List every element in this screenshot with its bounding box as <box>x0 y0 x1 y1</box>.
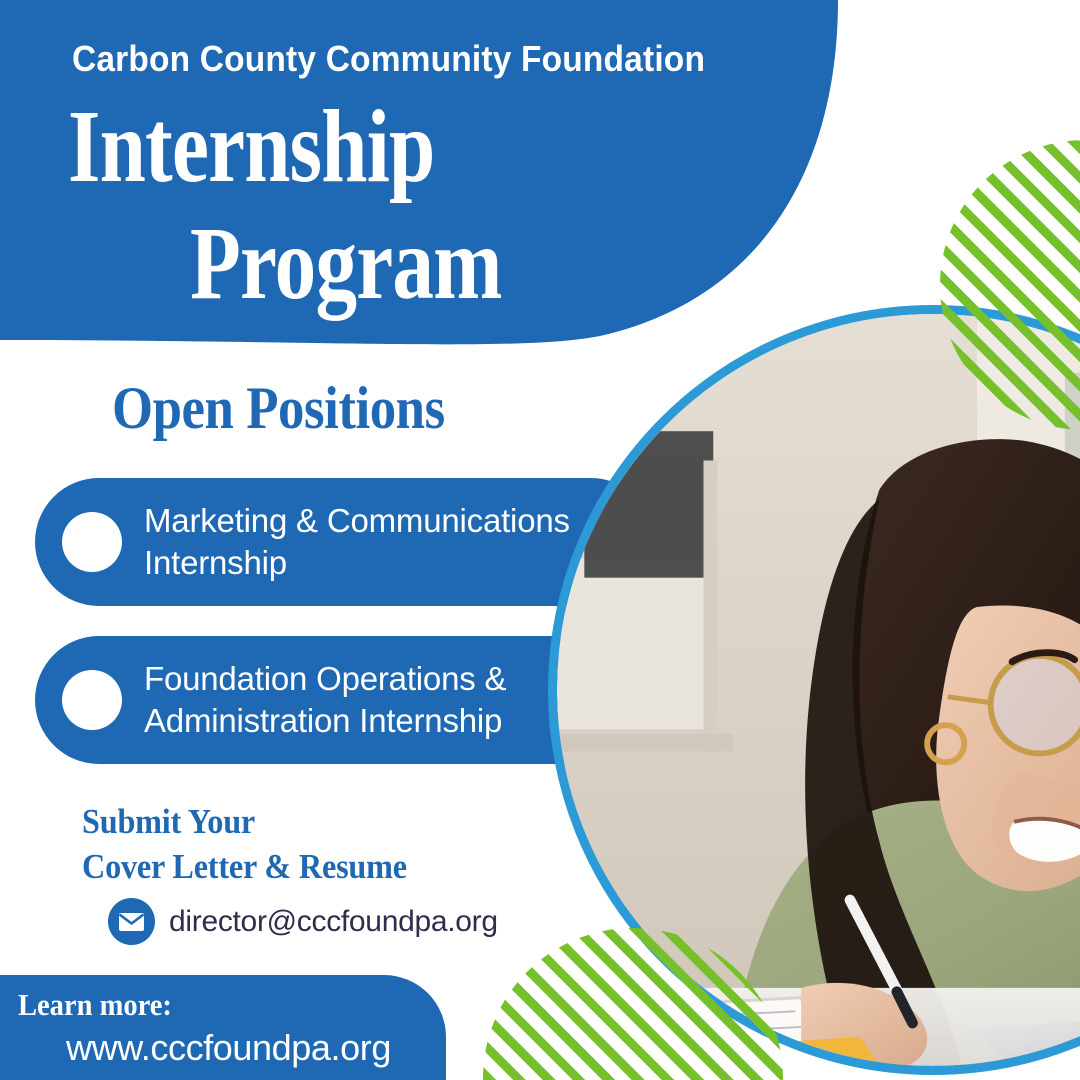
envelope-icon <box>108 898 155 945</box>
poster-title-line-2: Program <box>190 212 814 316</box>
learn-more-label: Learn more: <box>18 987 172 1023</box>
submit-instructions: Submit Your Cover Letter & Resume <box>82 800 435 890</box>
email-contact-row[interactable]: director@cccfoundpa.org <box>108 898 498 945</box>
filled-circle-bullet-icon <box>62 670 122 730</box>
poster-title-line-1: Internship <box>68 95 692 199</box>
position-label: Marketing & Communications Internship <box>144 500 570 584</box>
filled-circle-bullet-icon <box>62 512 122 572</box>
submit-line-1: Submit Your <box>82 800 407 845</box>
position-label: Foundation Operations & Administration I… <box>144 658 506 742</box>
organization-name: Carbon County Community Foundation <box>72 38 779 80</box>
learn-more-panel: Learn more: www.cccfoundpa.org <box>0 975 446 1080</box>
email-address[interactable]: director@cccfoundpa.org <box>169 905 498 939</box>
poster-canvas: Carbon County Community Foundation Inter… <box>0 0 1080 1080</box>
open-positions-heading: Open Positions <box>112 378 445 438</box>
submit-line-2: Cover Letter & Resume <box>82 845 407 890</box>
website-url[interactable]: www.cccfoundpa.org <box>66 1027 391 1069</box>
